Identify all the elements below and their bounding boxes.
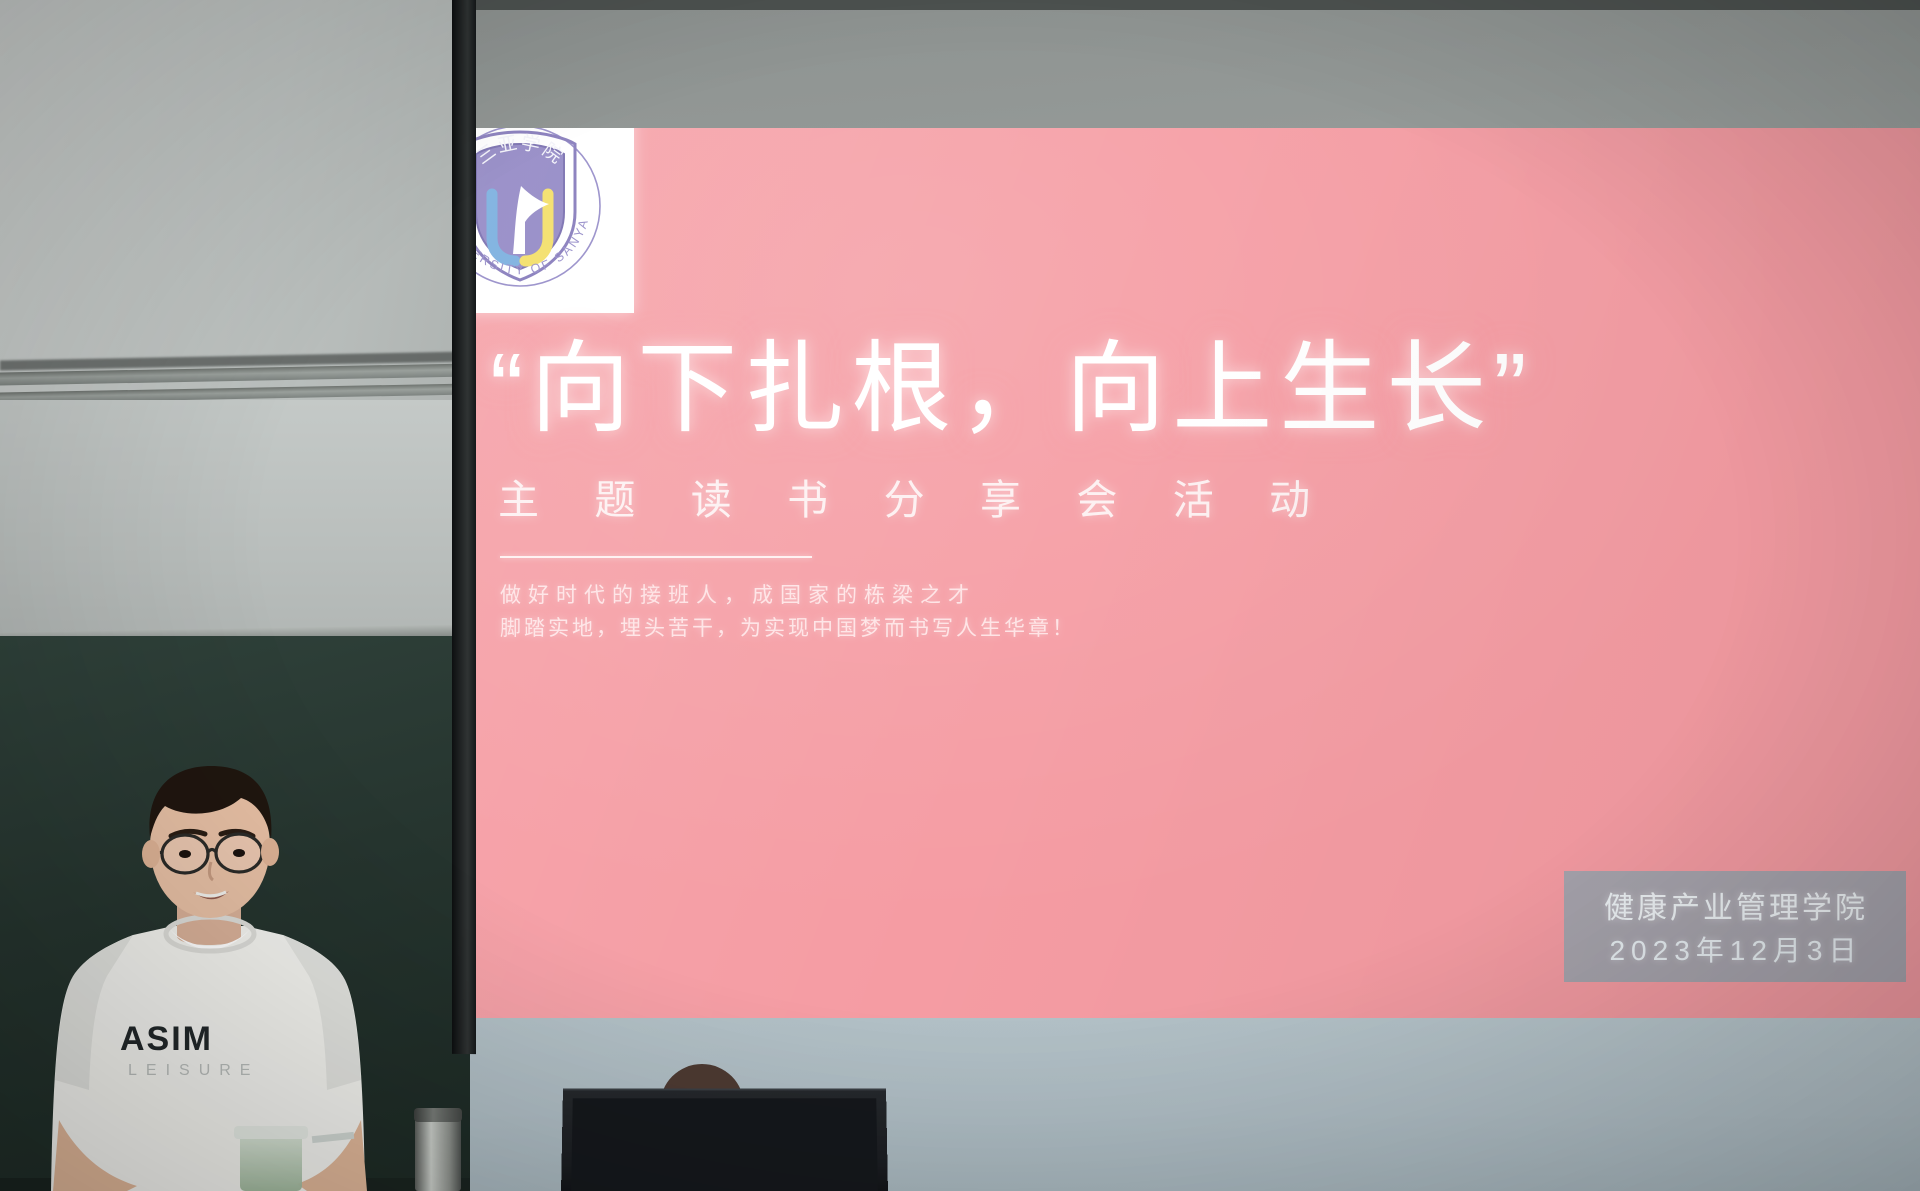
slide-organizer-badge: 健康产业管理学院 2023年12月3日	[1564, 871, 1906, 982]
organizer-name: 健康产业管理学院	[1586, 883, 1886, 927]
projector-screen-left-bezel	[452, 0, 476, 1054]
slide-subtitle: 主 题 读 书 分 享 会 活 动	[484, 466, 1920, 526]
presentation-slide: 三亚学院 UNIVERSITY OF SANYA “向下扎根，向上生	[474, 128, 1920, 1018]
projector-screen-top-edge	[470, 0, 1920, 10]
classroom-wall-upper	[0, 0, 470, 400]
shirt-graphic-subtext: LEISURE	[128, 1062, 259, 1080]
slide-text-block: “向下扎根，向上生长” 主 题 读 书 分 享 会 活 动 做好时代的接班人，成…	[484, 338, 1920, 645]
slide-divider	[500, 556, 812, 558]
university-crest-icon: 三亚学院 UNIVERSITY OF SANYA	[474, 128, 605, 292]
slogan-line-1: 做好时代的接班人，成国家的栋梁之才	[500, 580, 1920, 613]
slide-slogan: 做好时代的接班人，成国家的栋梁之才 脚踏实地，埋头苦干，为实现中国梦而书写人生华…	[500, 580, 1920, 645]
lecture-hall-scene: 三亚学院 UNIVERSITY OF SANYA “向下扎根，向上生	[0, 0, 1920, 1191]
presenter	[45, 760, 375, 1191]
drink-cup-lid	[234, 1126, 308, 1139]
water-bottle	[415, 1114, 461, 1191]
shirt-graphic-text: ASIM	[120, 1020, 213, 1059]
drink-cup	[240, 1132, 302, 1191]
university-logo-plate: 三亚学院 UNIVERSITY OF SANYA	[474, 128, 634, 313]
laptop-lid-inner	[571, 1098, 878, 1191]
slide-title: “向下扎根，向上生长”	[484, 338, 1920, 440]
laptop-lid	[561, 1088, 888, 1191]
classroom-wall-lower	[0, 400, 470, 660]
slogan-line-2: 脚踏实地，埋头苦干，为实现中国梦而书写人生华章！	[500, 613, 1920, 646]
event-date: 2023年12月3日	[1586, 929, 1886, 969]
water-bottle-cap	[414, 1108, 462, 1122]
